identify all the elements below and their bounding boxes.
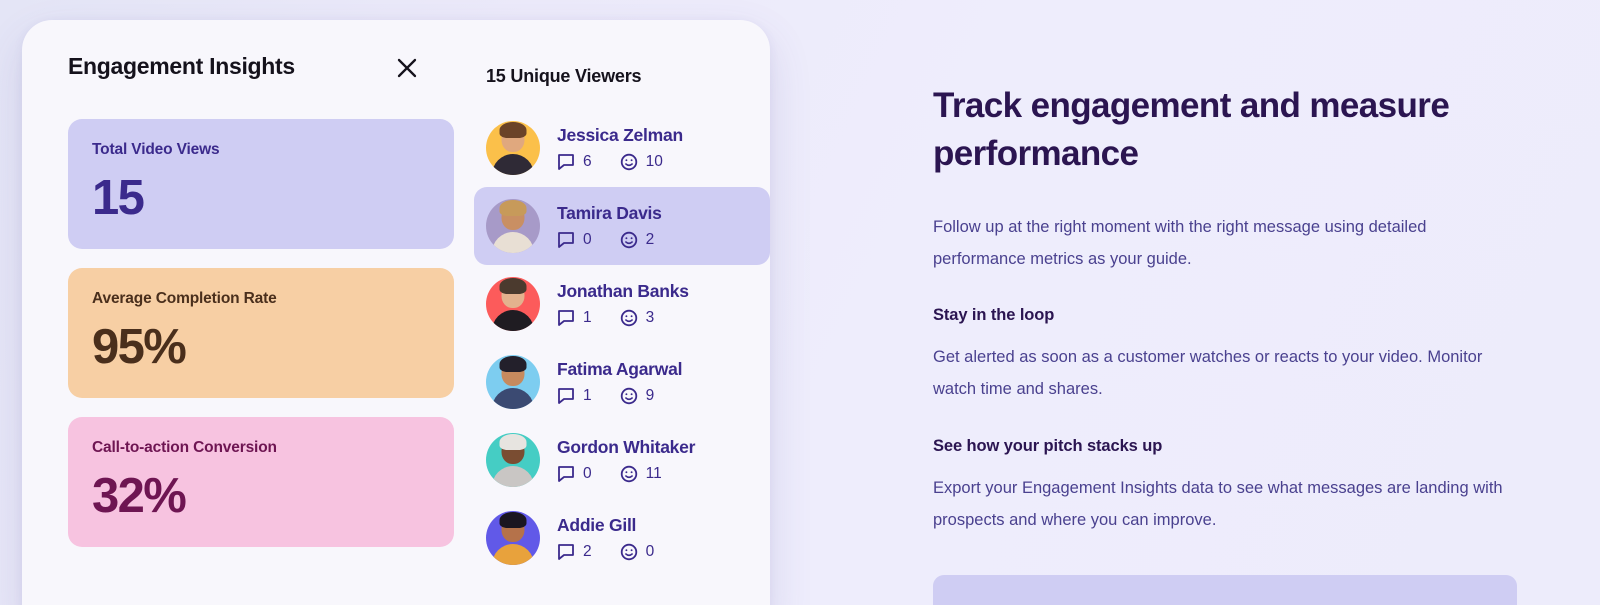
marketing-content: Track engagement and measure performance… bbox=[933, 0, 1573, 605]
comment-count: 1 bbox=[557, 309, 592, 327]
smiley-face-icon bbox=[620, 387, 638, 405]
section-body-see-how-your-pitch-stacks-up: Export your Engagement Insights data to … bbox=[933, 472, 1508, 536]
viewer-stats: 20 bbox=[557, 543, 654, 561]
smiley-face-icon bbox=[620, 543, 638, 561]
page-root: Engagement Insights Total Video Views 15… bbox=[0, 0, 1600, 605]
viewer-row[interactable]: Jonathan Banks13 bbox=[474, 265, 770, 343]
viewer-row[interactable]: Jessica Zelman610 bbox=[474, 109, 770, 187]
viewer-meta: Tamira Davis02 bbox=[557, 203, 662, 249]
comment-bubble-icon bbox=[557, 153, 575, 171]
stat-card-call-to-action-conversion: Call-to-action Conversion 32% bbox=[68, 417, 454, 547]
viewer-name: Jessica Zelman bbox=[557, 125, 683, 146]
stats-column: Engagement Insights Total Video Views 15… bbox=[22, 20, 474, 605]
comment-bubble-icon bbox=[557, 465, 575, 483]
avatar bbox=[486, 511, 540, 565]
viewer-stats: 011 bbox=[557, 465, 695, 483]
reaction-count: 3 bbox=[620, 309, 655, 327]
stat-label: Call-to-action Conversion bbox=[92, 439, 430, 457]
comment-bubble-icon bbox=[557, 543, 575, 561]
comment-count: 0 bbox=[557, 231, 592, 249]
viewer-row[interactable]: Gordon Whitaker011 bbox=[474, 421, 770, 499]
stat-card-average-completion-rate: Average Completion Rate 95% bbox=[68, 268, 454, 398]
avatar bbox=[486, 355, 540, 409]
avatar bbox=[486, 277, 540, 331]
section-heading-see-how-your-pitch-stacks-up: See how your pitch stacks up bbox=[933, 437, 1573, 456]
reaction-count-value: 3 bbox=[646, 309, 655, 327]
reaction-count-value: 10 bbox=[646, 153, 663, 171]
content-heading: Track engagement and measure performance bbox=[933, 82, 1493, 178]
stat-value: 95% bbox=[92, 323, 430, 372]
section-heading-stay-in-the-loop: Stay in the loop bbox=[933, 306, 1573, 325]
viewer-stats: 19 bbox=[557, 387, 682, 405]
comment-count-value: 6 bbox=[583, 153, 592, 171]
viewers-list[interactable]: Jessica Zelman610Tamira Davis02Jonathan … bbox=[474, 109, 770, 577]
comment-bubble-icon bbox=[557, 231, 575, 249]
stat-label: Total Video Views bbox=[92, 141, 430, 159]
comment-bubble-icon bbox=[557, 309, 575, 327]
engagement-insights-panel: Engagement Insights Total Video Views 15… bbox=[22, 20, 770, 605]
viewer-name: Gordon Whitaker bbox=[557, 437, 695, 458]
viewer-meta: Jonathan Banks13 bbox=[557, 281, 689, 327]
viewer-meta: Fatima Agarwal19 bbox=[557, 359, 682, 405]
reaction-count: 9 bbox=[620, 387, 655, 405]
content-lead-paragraph: Follow up at the right moment with the r… bbox=[933, 211, 1508, 275]
comment-bubble-icon bbox=[557, 387, 575, 405]
viewer-stats: 13 bbox=[557, 309, 689, 327]
viewer-stats: 02 bbox=[557, 231, 662, 249]
viewer-row[interactable]: Tamira Davis02 bbox=[474, 187, 770, 265]
reaction-count-value: 9 bbox=[646, 387, 655, 405]
viewer-meta: Jessica Zelman610 bbox=[557, 125, 683, 171]
comment-count: 1 bbox=[557, 387, 592, 405]
viewers-column: 15 Unique Viewers Jessica Zelman610Tamir… bbox=[474, 20, 770, 605]
reaction-count: 0 bbox=[620, 543, 655, 561]
comment-count: 6 bbox=[557, 153, 592, 171]
section-body-stay-in-the-loop: Get alerted as soon as a customer watche… bbox=[933, 341, 1508, 405]
reaction-count-value: 0 bbox=[646, 543, 655, 561]
reaction-count-value: 2 bbox=[646, 231, 655, 249]
stat-label: Average Completion Rate bbox=[92, 290, 430, 308]
comment-count-value: 1 bbox=[583, 387, 592, 405]
close-icon[interactable] bbox=[389, 50, 425, 86]
viewer-name: Addie Gill bbox=[557, 515, 654, 536]
reaction-count-value: 11 bbox=[646, 465, 662, 483]
comment-count-value: 0 bbox=[583, 465, 592, 483]
comment-count: 2 bbox=[557, 543, 592, 561]
viewers-count-heading: 15 Unique Viewers bbox=[474, 66, 770, 87]
smiley-face-icon bbox=[620, 153, 638, 171]
smiley-face-icon bbox=[620, 309, 638, 327]
comment-count-value: 1 bbox=[583, 309, 592, 327]
viewer-row[interactable]: Addie Gill20 bbox=[474, 499, 770, 577]
comment-count-value: 2 bbox=[583, 543, 592, 561]
viewer-row[interactable]: Fatima Agarwal19 bbox=[474, 343, 770, 421]
bottom-cta-bar[interactable] bbox=[933, 575, 1517, 605]
viewer-meta: Addie Gill20 bbox=[557, 515, 654, 561]
viewer-meta: Gordon Whitaker011 bbox=[557, 437, 695, 483]
comment-count: 0 bbox=[557, 465, 592, 483]
comment-count-value: 0 bbox=[583, 231, 592, 249]
stat-value: 15 bbox=[92, 174, 430, 223]
viewer-name: Fatima Agarwal bbox=[557, 359, 682, 380]
avatar bbox=[486, 199, 540, 253]
smiley-face-icon bbox=[620, 231, 638, 249]
viewer-name: Tamira Davis bbox=[557, 203, 662, 224]
stat-value: 32% bbox=[92, 472, 430, 521]
smiley-face-icon bbox=[620, 465, 638, 483]
avatar bbox=[486, 121, 540, 175]
reaction-count: 2 bbox=[620, 231, 655, 249]
viewer-name: Jonathan Banks bbox=[557, 281, 689, 302]
viewer-stats: 610 bbox=[557, 153, 683, 171]
avatar bbox=[486, 433, 540, 487]
reaction-count: 11 bbox=[620, 465, 662, 483]
stat-card-total-video-views: Total Video Views 15 bbox=[68, 119, 454, 249]
reaction-count: 10 bbox=[620, 153, 663, 171]
